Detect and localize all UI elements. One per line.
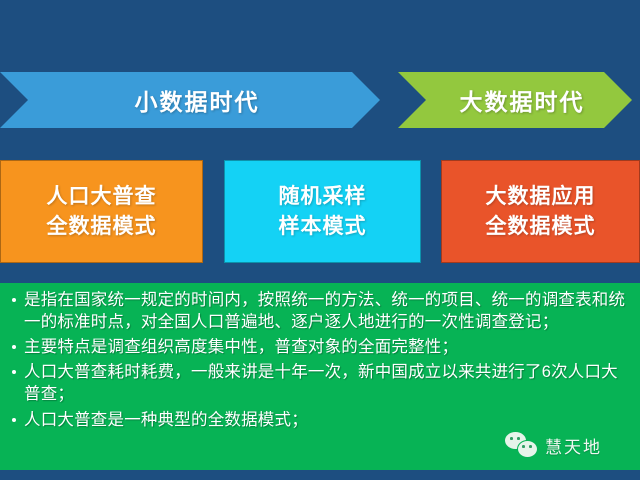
wechat-icon-dot — [529, 445, 532, 448]
divider-band — [0, 265, 640, 283]
era-chevron-big-data-label: 大数据时代 — [446, 83, 585, 117]
top-background-band — [0, 0, 640, 62]
era-chevron-small-data[interactable]: 小数据时代 — [0, 72, 380, 128]
mode-card-row: 人口大普查 全数据模式 随机采样 样本模式 大数据应用 全数据模式 — [0, 160, 640, 265]
mode-card-sampling-line1: 随机采样 — [279, 182, 367, 212]
wechat-icon-dot — [522, 445, 525, 448]
mode-card-bigdata-line1: 大数据应用 — [486, 182, 596, 212]
wechat-icon-dot — [510, 437, 513, 440]
wechat-icon — [505, 432, 539, 458]
wechat-icon-dot — [517, 437, 520, 440]
mode-card-census-line1: 人口大普查 — [47, 182, 157, 212]
era-chevron-big-data[interactable]: 大数据时代 — [398, 72, 632, 128]
mode-card-bigdata-line2: 全数据模式 — [486, 212, 596, 242]
bottom-background-band — [0, 470, 640, 480]
mode-card-sampling[interactable]: 随机采样 样本模式 — [224, 160, 421, 263]
list-item: 是指在国家统一规定的时间内，按照统一的方法、统一的项目、统一的调查表和统一的标准… — [10, 289, 626, 333]
list-item: 主要特点是调查组织高度集中性，普查对象的全面完整性； — [10, 336, 626, 358]
mode-card-census-line2: 全数据模式 — [47, 212, 157, 242]
description-bullet-list: 是指在国家统一规定的时间内，按照统一的方法、统一的项目、统一的调查表和统一的标准… — [10, 289, 626, 431]
mode-card-sampling-line2: 样本模式 — [279, 212, 367, 242]
wechat-watermark: 慧天地 — [505, 432, 602, 458]
mode-card-census[interactable]: 人口大普查 全数据模式 — [0, 160, 203, 263]
wechat-watermark-label: 慧天地 — [545, 433, 602, 458]
mode-card-bigdata[interactable]: 大数据应用 全数据模式 — [441, 160, 640, 263]
list-item: 人口大普查耗时耗费，一般来讲是十年一次，新中国成立以来共进行了6次人口大普查； — [10, 361, 626, 405]
slide-canvas: 小数据时代 大数据时代 人口大普查 全数据模式 随机采样 样本模式 大数据应用 … — [0, 0, 640, 480]
era-chevron-small-data-label: 小数据时代 — [121, 83, 260, 117]
wechat-icon-bubble-front — [517, 440, 538, 458]
list-item: 人口大普查是一种典型的全数据模式； — [10, 409, 626, 431]
era-timeline: 小数据时代 大数据时代 — [0, 62, 640, 140]
